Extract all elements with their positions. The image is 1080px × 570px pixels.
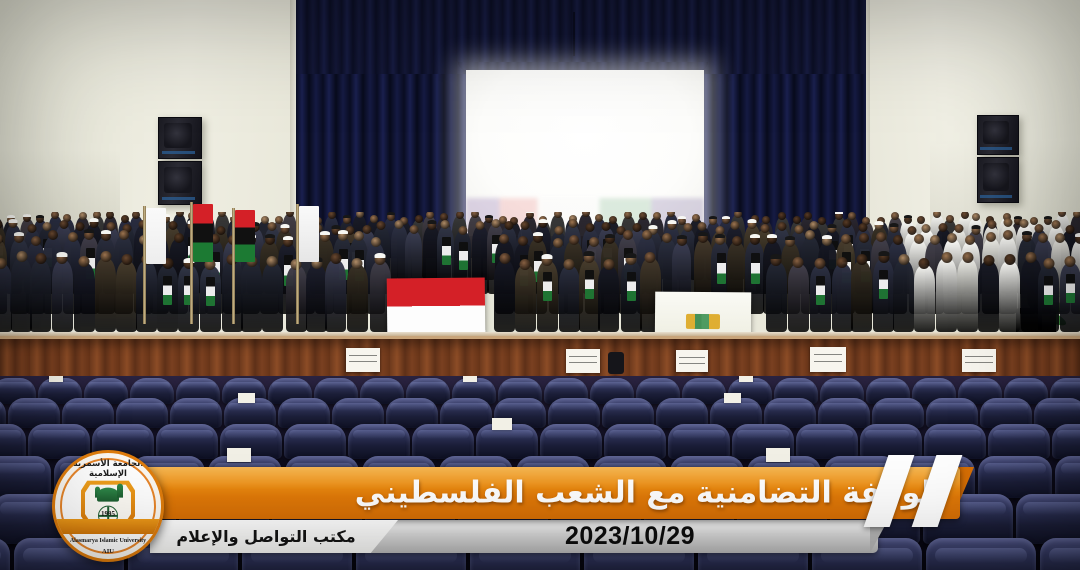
- attendee: [914, 265, 935, 332]
- attendee: [537, 261, 558, 332]
- auditorium-seat: [860, 424, 922, 459]
- attendee-head: [377, 221, 386, 230]
- attendee: [515, 265, 536, 332]
- attendee-head: [216, 226, 225, 235]
- attendee-headwear: [14, 232, 24, 236]
- attendee-head: [732, 236, 742, 246]
- attendee-head: [1058, 212, 1066, 217]
- attendee-head: [371, 237, 381, 247]
- attendee-head: [415, 215, 423, 223]
- attendee-head: [1020, 219, 1029, 228]
- attendee: [262, 263, 283, 332]
- attendee-head: [987, 220, 996, 229]
- attendee-headwear: [605, 234, 615, 238]
- attendee-head: [908, 226, 917, 235]
- attendee-head: [639, 212, 647, 220]
- attendee-head: [100, 251, 111, 262]
- attendee-head: [804, 212, 812, 220]
- attendee-head: [176, 212, 184, 217]
- attendee-head: [930, 235, 940, 245]
- attendee-head: [354, 231, 364, 241]
- attendee-headwear: [36, 215, 44, 218]
- attendee-head: [653, 212, 661, 220]
- attendee-head: [119, 230, 129, 240]
- attendee-head: [569, 235, 579, 245]
- attendee-head: [518, 236, 528, 246]
- seat-reserved-tag: [724, 393, 741, 403]
- seat-reserved-tag: [766, 448, 790, 462]
- attendee-headwear: [265, 234, 275, 238]
- attendee: [30, 260, 51, 332]
- attendee-head: [986, 232, 996, 242]
- stage-front-wood-panel: [0, 336, 1080, 380]
- attendee-headwear: [332, 225, 341, 229]
- palestine-scarf: [206, 277, 215, 306]
- seat-reserved-tag: [49, 376, 63, 382]
- attendee-head: [623, 230, 633, 240]
- palestine-scarf: [1044, 276, 1053, 305]
- indonesia-flag: [387, 277, 486, 334]
- attendee-head: [941, 252, 952, 263]
- palestine-scarf: [879, 270, 888, 299]
- attendee-head: [818, 217, 826, 225]
- attendee-head: [59, 220, 68, 229]
- attendee-headwear: [542, 254, 553, 259]
- speaker-unit: [977, 157, 1019, 203]
- attendee-headwear: [84, 229, 94, 233]
- attendee-head: [286, 212, 294, 217]
- attendee-headwear: [23, 214, 31, 217]
- attendee-head: [395, 220, 404, 229]
- attendee-head: [983, 255, 994, 266]
- auditorium-seat: [1016, 494, 1080, 544]
- attendee-head: [898, 254, 909, 265]
- attendee-head: [564, 259, 575, 270]
- attendee-head: [815, 258, 826, 269]
- attendee-head: [218, 212, 226, 217]
- attendee-head: [947, 233, 957, 243]
- university-logo: الجامعة الأسمرية الإسلامية 1995 Alasmary…: [52, 450, 164, 562]
- attendee: [873, 259, 894, 332]
- attendee-head: [662, 233, 672, 243]
- attendee-head: [961, 212, 969, 219]
- paper-sign: [962, 349, 996, 372]
- attendee-head: [922, 224, 931, 233]
- attendee: [559, 266, 580, 332]
- attendee-head: [51, 212, 59, 219]
- attendee-head: [520, 259, 531, 270]
- attendee-headwear: [89, 218, 98, 222]
- speaker-unit: [158, 161, 202, 205]
- seat-row: [0, 424, 1080, 459]
- attendee: [621, 261, 642, 332]
- palestine-scarf: [717, 253, 726, 284]
- auditorium-seat: [926, 538, 1036, 570]
- attendee-head: [893, 235, 903, 245]
- attendee-head: [568, 219, 577, 228]
- attendee-headwear: [1014, 216, 1022, 219]
- attendee-headwear: [1044, 216, 1052, 219]
- attendee-head: [972, 213, 980, 221]
- attendee-head: [633, 223, 642, 232]
- attendee-head: [68, 232, 78, 242]
- attendee-head: [919, 258, 930, 269]
- attendee-headwear: [748, 219, 757, 223]
- attendee-head: [330, 253, 341, 264]
- paper-sign: [810, 347, 846, 372]
- attendee-head: [730, 221, 739, 230]
- attendee-headwear: [533, 232, 543, 236]
- attendee-head: [121, 215, 129, 223]
- attendee-head: [1052, 220, 1061, 229]
- attendee-head: [28, 224, 37, 233]
- title-strip: الوقفة التضامنية مع الشعب الفلسطيني: [118, 467, 960, 519]
- event-photograph: الوقفة التضامنية مع الشعب الفلسطيني مكتب…: [0, 0, 1080, 570]
- attendee-head: [837, 257, 848, 268]
- attendee-headwear: [526, 212, 534, 213]
- attendee-headwear: [427, 220, 436, 224]
- attendee-head: [891, 212, 899, 220]
- attendee-head: [642, 230, 652, 240]
- attendee-head: [409, 225, 418, 234]
- logo-ribbon: [52, 519, 164, 534]
- flag-libya: [193, 204, 213, 262]
- attendee: [52, 260, 73, 332]
- auditorium-seat: [1052, 424, 1080, 459]
- attendee-head: [856, 254, 867, 265]
- auditorium-seat: [1055, 456, 1080, 498]
- auditorium-seat: [284, 424, 346, 459]
- attendee-head: [458, 226, 467, 235]
- attendee-head: [645, 252, 656, 263]
- attendee-headwear: [667, 220, 676, 224]
- attendee-head: [939, 223, 948, 232]
- event-title: الوقفة التضامنية مع الشعب الفلسطيني: [355, 476, 942, 511]
- palestine-scarf: [543, 272, 552, 301]
- attendee-head: [1004, 254, 1015, 265]
- seat-reserved-tag: [739, 376, 753, 382]
- attendee-head: [965, 235, 975, 245]
- auditorium-seat: [0, 538, 10, 570]
- attendee-head: [876, 232, 886, 242]
- attendee-head: [595, 214, 603, 222]
- stage-equipment-box: [608, 352, 624, 374]
- auditorium-seat: [0, 456, 51, 498]
- attendee-head: [603, 259, 614, 270]
- attendee: [579, 259, 600, 333]
- attendee-head: [79, 212, 87, 220]
- attendee-headwear: [822, 235, 832, 239]
- speaker-unit: [158, 117, 202, 159]
- attendee-headwear: [649, 225, 658, 229]
- attendee-head: [363, 225, 372, 234]
- attendee-headwear: [767, 234, 777, 238]
- attendee-head: [962, 252, 973, 263]
- palestine-scarf: [442, 237, 451, 265]
- logo-abbreviation: AIU: [102, 548, 114, 555]
- attendee-headwear: [875, 221, 884, 225]
- attendee-headwear: [320, 231, 330, 235]
- attendee-headwear: [890, 223, 899, 227]
- attendee-headwear: [338, 230, 348, 234]
- attendee-head: [554, 212, 562, 218]
- attendee-head: [504, 221, 513, 230]
- attendee: [157, 265, 178, 332]
- attendee-headwear: [698, 232, 708, 236]
- paper-sign: [346, 348, 380, 372]
- attendee: [116, 261, 137, 332]
- flag-libya: [235, 210, 255, 262]
- attendee-headwear: [375, 253, 386, 258]
- attendee-head: [683, 223, 692, 232]
- attendee-head: [1038, 233, 1048, 243]
- attendee-head: [1065, 256, 1076, 267]
- palestine-scarf: [751, 253, 760, 284]
- attendee-head: [174, 233, 184, 243]
- seat-reserved-tag: [492, 418, 512, 430]
- attendee-headwear: [283, 236, 293, 240]
- attendee-head: [106, 212, 114, 219]
- subtitle-strip: [150, 520, 878, 553]
- attendee-headwear: [584, 251, 595, 256]
- attendee-head: [356, 212, 364, 218]
- palestine-scarf: [816, 276, 825, 305]
- attendee-head: [476, 221, 485, 230]
- attendee-head: [267, 256, 278, 267]
- attendee: [0, 264, 12, 332]
- attendee-headwear: [387, 212, 395, 215]
- attendee-headwear: [904, 215, 912, 218]
- attendee-head: [734, 212, 742, 218]
- attendee-head: [582, 212, 590, 217]
- attendee: [494, 260, 515, 332]
- auditorium-seat: [156, 424, 218, 459]
- auditorium-seat: [412, 424, 474, 459]
- attendee-head: [843, 219, 852, 228]
- attendee-head: [521, 221, 530, 230]
- attendee-headwear: [835, 212, 843, 214]
- attendee-head: [441, 220, 450, 229]
- attendee-head: [794, 225, 803, 234]
- attendee: [788, 264, 809, 332]
- attendee: [598, 266, 619, 332]
- attendee-head: [491, 219, 500, 228]
- flag-white: [146, 208, 166, 264]
- attendee-head: [132, 212, 140, 219]
- attendee-head: [471, 212, 479, 218]
- attendee-head: [760, 224, 769, 233]
- attendee: [810, 265, 831, 332]
- palestine-scarf: [627, 272, 636, 301]
- attendee: [832, 264, 853, 332]
- attendee-headwear: [709, 216, 717, 219]
- curtain-cord: [573, 12, 575, 56]
- attendee: [136, 261, 157, 332]
- attendee-head: [48, 230, 58, 240]
- attendee-head: [841, 234, 851, 244]
- seat-reserved-tag: [227, 448, 251, 462]
- seat-reserved-tag: [238, 393, 255, 403]
- attendee-head: [1026, 252, 1037, 263]
- attendee-head: [456, 212, 464, 219]
- flag-white: [299, 206, 319, 262]
- palestine-scarf: [459, 242, 468, 270]
- attendee-head: [667, 212, 675, 217]
- auditorium-seat: [604, 424, 666, 459]
- attendee-headwear: [722, 216, 730, 219]
- attendee-headwear: [771, 254, 782, 259]
- attendee-headwear: [343, 215, 351, 218]
- attendee-head: [499, 253, 510, 264]
- attendee-head: [602, 222, 611, 231]
- auditorium-seat: [348, 424, 410, 459]
- attendee-head: [586, 223, 595, 232]
- attendee-head: [809, 221, 818, 230]
- attendee-head: [554, 226, 563, 235]
- attendee-head: [762, 216, 770, 224]
- attendee-head: [1035, 224, 1044, 233]
- attendee-head: [1073, 212, 1080, 218]
- attendee-head: [1055, 233, 1065, 243]
- attendee-headwear: [828, 224, 837, 228]
- attendee-head: [692, 214, 700, 222]
- attendee-headwear: [715, 234, 725, 238]
- attendee-head: [777, 222, 786, 231]
- paper-sign: [566, 349, 600, 373]
- attendee: [1038, 265, 1059, 332]
- attendee-head: [805, 230, 815, 240]
- attendee-head: [1065, 225, 1074, 234]
- attendee-head: [793, 216, 801, 224]
- attendee: [178, 265, 199, 332]
- attendee: [74, 263, 95, 333]
- attendee-headwear: [971, 225, 980, 229]
- attendee-headwear: [626, 253, 637, 258]
- attendee: [978, 261, 999, 332]
- attendee-head: [624, 212, 632, 219]
- attendee: [936, 258, 957, 332]
- attendee-head: [698, 222, 707, 231]
- palestine-scarf: [1066, 274, 1075, 303]
- wall-speaker-left: [158, 117, 202, 205]
- auditorium-seat: [540, 424, 602, 459]
- attendee: [957, 258, 978, 332]
- attendee-headwear: [485, 215, 493, 218]
- attendee-headwear: [678, 216, 686, 219]
- attendee: [325, 260, 346, 332]
- attendee-headwear: [9, 219, 18, 223]
- attendee-headwear: [280, 224, 289, 228]
- logo-english-name: Alasmarya Islamic University: [55, 537, 161, 546]
- attendee-head: [35, 253, 46, 264]
- attendee-head: [75, 222, 84, 231]
- paper-sign: [676, 350, 708, 372]
- attendee-headwear: [677, 235, 687, 239]
- attendee: [95, 258, 116, 332]
- mosque-dome-icon: [97, 488, 119, 502]
- auditorium-seat: [924, 424, 986, 459]
- auditorium-seat: [0, 424, 26, 459]
- logo-year: 1995: [101, 510, 115, 518]
- attendee-head: [1043, 258, 1054, 269]
- attendee-headwear: [101, 230, 111, 234]
- attendee-head: [426, 212, 434, 219]
- attendee-head: [914, 234, 924, 244]
- palestine-scarf: [585, 270, 594, 299]
- attendee-head: [168, 221, 177, 230]
- attendee-headwear: [1075, 233, 1080, 237]
- attendee-head: [589, 237, 599, 247]
- attendee-headwear: [1022, 231, 1032, 235]
- attendee-headwear: [878, 251, 889, 256]
- auditorium-seat: [668, 424, 730, 459]
- palestine-scarf: [163, 276, 172, 305]
- auditorium-seat: [978, 456, 1052, 498]
- attendee: [766, 262, 787, 332]
- attendee-headwear: [750, 234, 760, 238]
- attendee-head: [917, 216, 925, 224]
- attendee-head: [16, 251, 27, 262]
- attendee-head: [946, 215, 954, 223]
- wall-speaker-right: [977, 115, 1019, 203]
- attendee-head: [778, 212, 786, 220]
- attendee-head: [121, 254, 132, 265]
- attendee-head: [79, 256, 90, 267]
- attendee-head: [553, 238, 563, 248]
- attendee: [851, 261, 872, 332]
- attendee: [200, 266, 221, 332]
- auditorium-seat: [796, 424, 858, 459]
- seat-reserved-tag: [463, 376, 477, 382]
- auditorium-seat: [988, 424, 1050, 459]
- auditorium-seat: [1040, 538, 1080, 570]
- attendee-headwear: [538, 219, 547, 223]
- attendee-head: [261, 216, 269, 224]
- attendee-head: [0, 258, 7, 269]
- attendee-head: [954, 224, 963, 233]
- attendee-head: [328, 212, 336, 219]
- attendee-headwear: [785, 236, 795, 240]
- attendee: [893, 260, 914, 332]
- attendee-head: [1004, 218, 1013, 227]
- auditorium-seat: [476, 424, 538, 459]
- minaret-icon: [117, 484, 123, 498]
- attendee: [347, 265, 368, 332]
- attendee-head: [352, 258, 363, 269]
- attendee-head: [499, 234, 509, 244]
- attendee-head: [268, 222, 277, 231]
- attendee: [306, 265, 327, 332]
- banner-logo-mark: [686, 314, 720, 329]
- attendee-head: [793, 257, 804, 268]
- attendee-head: [1003, 230, 1013, 240]
- attendee-head: [859, 223, 868, 232]
- attendee-headwear: [57, 252, 68, 257]
- attendee: [999, 261, 1020, 332]
- attendee: [241, 262, 262, 332]
- attendee-head: [31, 236, 41, 246]
- attendee-head: [609, 216, 617, 224]
- attendee-head: [933, 212, 941, 218]
- speaker-unit: [977, 115, 1019, 155]
- attendee: [1060, 263, 1080, 332]
- attendee-head: [859, 233, 869, 243]
